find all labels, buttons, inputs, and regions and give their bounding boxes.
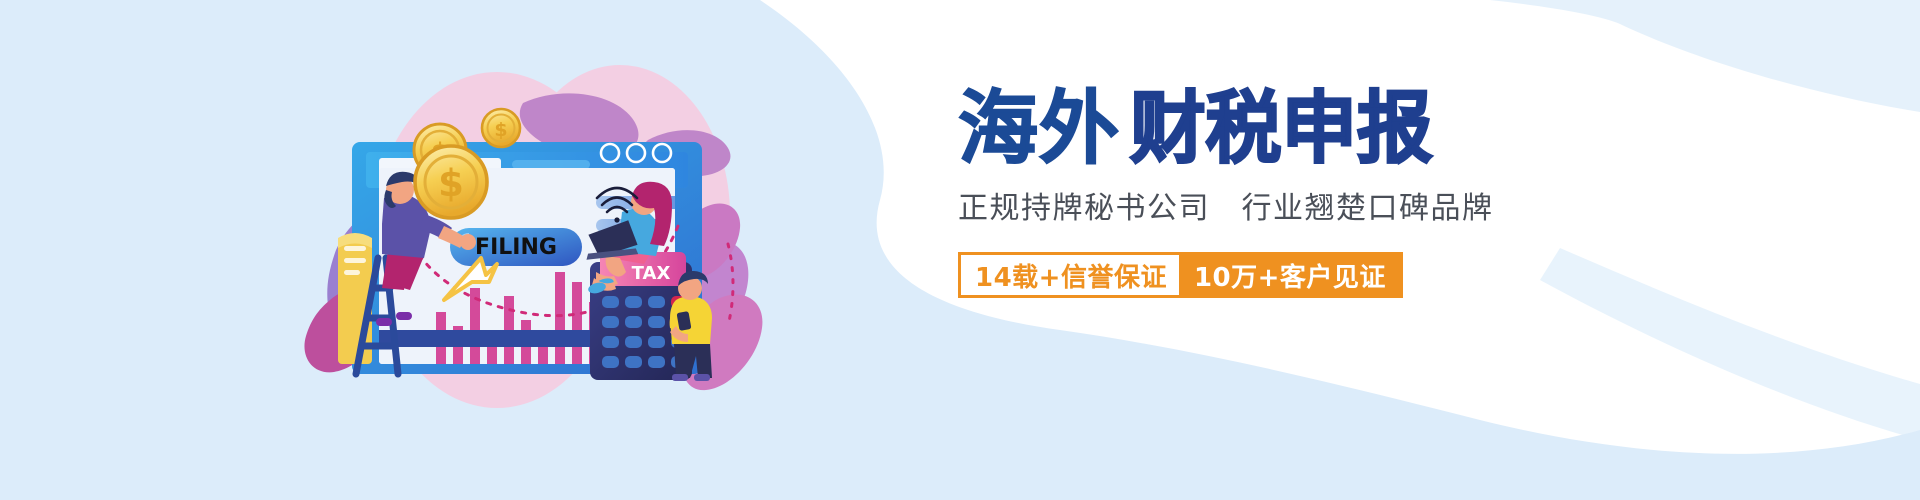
svg-text:$: $	[494, 119, 507, 141]
filing-button-label: FILING	[475, 235, 557, 260]
coin-large: $	[415, 146, 487, 218]
headline-part2: 财税申报	[1130, 88, 1433, 170]
calculator-display-label: TAX	[632, 263, 671, 284]
headline-part1: 海外	[958, 88, 1120, 170]
subtitle: 正规持牌秘书公司 行业翘楚口碑品牌	[958, 192, 1778, 226]
promo-text-block: 海外 财税申报 正规持牌秘书公司 行业翘楚口碑品牌 14载+信誉保证 10万+客…	[958, 74, 1778, 374]
badge-customers: 10万+客户见证	[1179, 252, 1403, 298]
badge-experience: 14载+信誉保证	[958, 252, 1179, 298]
coin-small-2: $	[482, 109, 520, 147]
svg-text:$: $	[438, 162, 464, 205]
badge-group: 14载+信誉保证 10万+客户见证	[958, 252, 1778, 298]
headline: 海外 财税申报	[958, 74, 1778, 170]
promo-banner: FILING	[0, 0, 1920, 500]
